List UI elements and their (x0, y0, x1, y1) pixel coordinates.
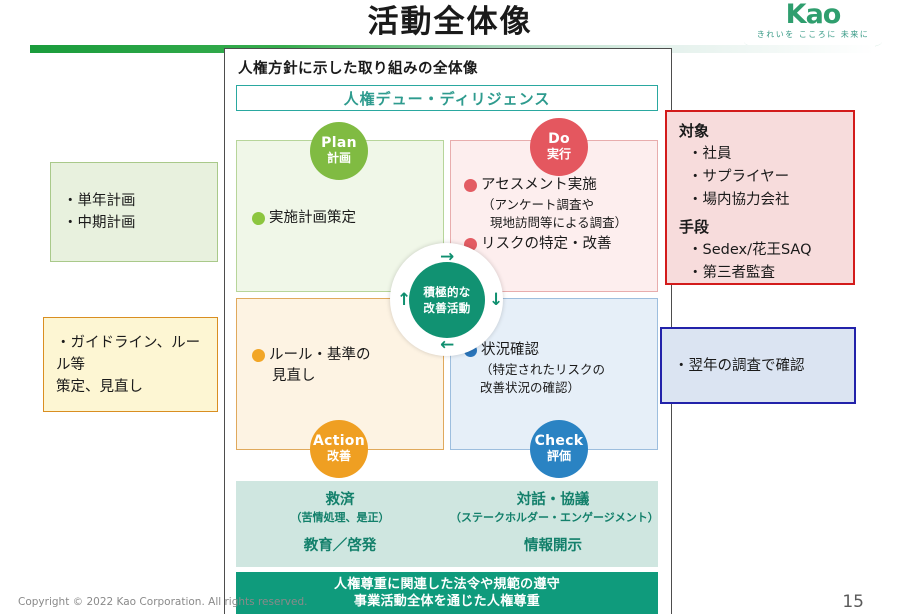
plan-item-1: 実施計画策定 (252, 208, 438, 229)
due-diligence-label: 人権デュー・ディリジェンス (344, 88, 551, 109)
callout-action-line-2: 策定、見直し (56, 376, 205, 398)
callout-do-item-5: ・第三者監査 (679, 262, 812, 285)
callout-do-item-3: ・場内協力会社 (679, 189, 812, 212)
check-item-1-sub-1: （特定されたリスクの (464, 361, 656, 379)
copyright-notice: Copyright © 2022 Kao Corporation. All ri… (18, 596, 307, 608)
plan-content: 実施計画策定 (252, 208, 438, 229)
do-item-1-sub-1: （アンケート調査や (464, 196, 656, 214)
check-content: 状況確認 （特定されたリスクの 改善状況の確認） (464, 340, 656, 397)
bullet-dot-icon (252, 212, 265, 225)
badge-check-en: Check (535, 434, 584, 449)
due-diligence-banner: 人権デュー・ディリジェンス (236, 85, 658, 111)
callout-plan-line-2: ・中期計画 (63, 212, 136, 234)
badge-plan-jp: 計画 (327, 151, 351, 166)
slide-root: 活動全体像 Kao きれいを こころに 未来に 人権方針に示した取り組みの全体像… (0, 0, 900, 614)
kao-logo: Kao きれいを こころに 未来に (738, 2, 888, 48)
education-title: 教育／啓発 (240, 536, 440, 556)
action-item-1-label: ルール・基準の (269, 345, 371, 366)
logo-tagline: きれいを こころに 未来に (738, 28, 888, 41)
callout-do-item-1: ・社員 (679, 143, 812, 166)
remedy-title: 救済 (240, 490, 440, 510)
cycle-arrow-bottom-icon: ← (440, 337, 454, 354)
do-item-2: リスクの特定・改善 (464, 234, 656, 255)
callout-action-line-1: ・ガイドライン、ルール等 (56, 332, 205, 376)
action-item-1: ルール・基準の (252, 345, 438, 366)
bullet-dot-icon (464, 179, 477, 192)
do-content: アセスメント実施 （アンケート調査や 現地訪問等による調査） リスクの特定・改善 (464, 175, 656, 255)
badge-check: Check 評価 (530, 420, 588, 478)
foundation-line-2: 事業活動全体を通じた人権尊重 (354, 593, 540, 610)
improvement-cycle-core: 積極的な 改善活動 (409, 262, 485, 338)
remedy-sub: （苦情処理、是正） (240, 510, 440, 526)
callout-check-line-1: ・翌年の調査で確認 (674, 355, 805, 377)
dialogue-title: 対話・協議 (450, 490, 656, 510)
plan-item-1-label: 実施計画策定 (269, 208, 356, 229)
check-item-1-label: 状況確認 (481, 340, 539, 361)
supporting-activity-left: 救済 （苦情処理、是正） 教育／啓発 (240, 490, 440, 556)
panel-heading: 人権方針に示した取り組みの全体像 (238, 57, 478, 78)
cycle-arrow-right-icon: ↓ (489, 292, 503, 309)
check-item-1: 状況確認 (464, 340, 656, 361)
action-content: ルール・基準の 見直し (252, 345, 438, 387)
badge-plan-en: Plan (321, 136, 357, 151)
do-item-2-label: リスクの特定・改善 (481, 234, 612, 255)
badge-action-jp: 改善 (327, 449, 351, 464)
badge-plan: Plan 計画 (310, 122, 368, 180)
cycle-line-1: 積極的な (423, 284, 470, 300)
callout-action-outputs: ・ガイドライン、ルール等 策定、見直し (43, 317, 218, 412)
foundation-line-1: 人権尊重に関連した法令や規範の遵守 (334, 576, 560, 593)
logo-wordmark: Kao (738, 2, 888, 28)
badge-action: Action 改善 (310, 420, 368, 478)
callout-do-scope: 対象 ・社員 ・サプライヤー ・場内協力会社 手段 ・Sedex/花王SAQ ・… (665, 110, 855, 285)
callout-do-heading-1: 対象 (679, 120, 812, 143)
badge-action-en: Action (313, 434, 365, 449)
badge-do-en: Do (548, 132, 570, 147)
action-item-1-sub-1: 見直し (252, 366, 438, 387)
callout-check-followup: ・翌年の調査で確認 (660, 327, 856, 404)
do-item-1: アセスメント実施 (464, 175, 656, 196)
callout-do-item-2: ・サプライヤー (679, 166, 812, 189)
callout-do-heading-2: 手段 (679, 216, 812, 239)
badge-check-jp: 評価 (547, 449, 571, 464)
supporting-activity-right: 対話・協議 （ステークホルダー・エンゲージメント） 情報開示 (450, 490, 656, 556)
disclosure-title: 情報開示 (450, 536, 656, 556)
callout-plan-inputs: ・単年計画 ・中期計画 (50, 162, 218, 262)
callout-plan-line-1: ・単年計画 (63, 190, 136, 212)
callout-do-item-4: ・Sedex/花王SAQ (679, 239, 812, 262)
page-number: 15 (842, 592, 864, 612)
do-item-1-sub-2: 現地訪問等による調査） (464, 214, 656, 232)
cycle-line-2: 改善活動 (423, 300, 470, 316)
dialogue-sub: （ステークホルダー・エンゲージメント） (450, 510, 656, 526)
do-item-1-label: アセスメント実施 (481, 175, 597, 196)
badge-do: Do 実行 (530, 118, 588, 176)
bullet-dot-icon (252, 349, 265, 362)
check-item-1-sub-2: 改善状況の確認） (464, 379, 656, 397)
badge-do-jp: 実行 (547, 147, 571, 162)
